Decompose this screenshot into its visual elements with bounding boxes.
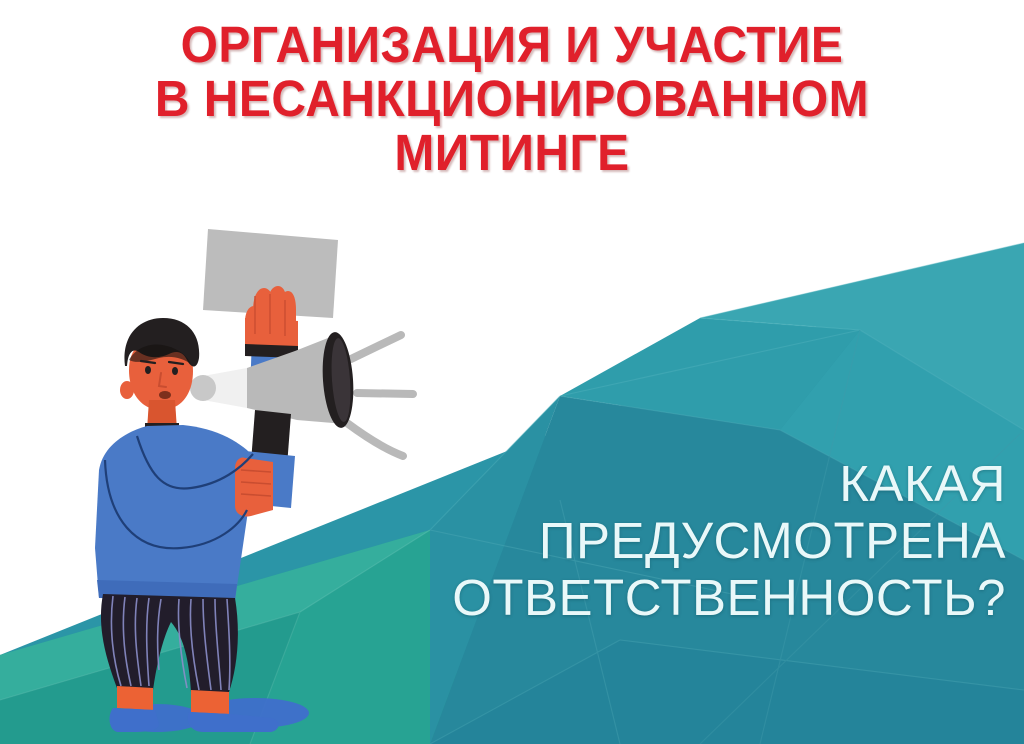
trousers bbox=[101, 594, 238, 692]
eye-left bbox=[145, 366, 151, 374]
shoe-left-sole bbox=[110, 708, 159, 732]
mouth bbox=[159, 391, 171, 399]
megaphone-rear-cap bbox=[190, 375, 216, 401]
sound-wave-bottom bbox=[347, 423, 403, 456]
shoe-left-cuff bbox=[117, 686, 153, 710]
poster-canvas: ОРГАНИЗАЦИЯ И УЧАСТИЕ В НЕСАНКЦИОНИРОВАН… bbox=[0, 0, 1024, 744]
sound-waves bbox=[347, 335, 413, 456]
eye-right bbox=[172, 367, 178, 375]
sound-wave-top bbox=[351, 335, 401, 359]
sound-wave-mid bbox=[357, 393, 413, 394]
head bbox=[120, 318, 199, 431]
protester-illustration bbox=[95, 218, 435, 744]
shoe-right-cuff bbox=[191, 690, 229, 714]
